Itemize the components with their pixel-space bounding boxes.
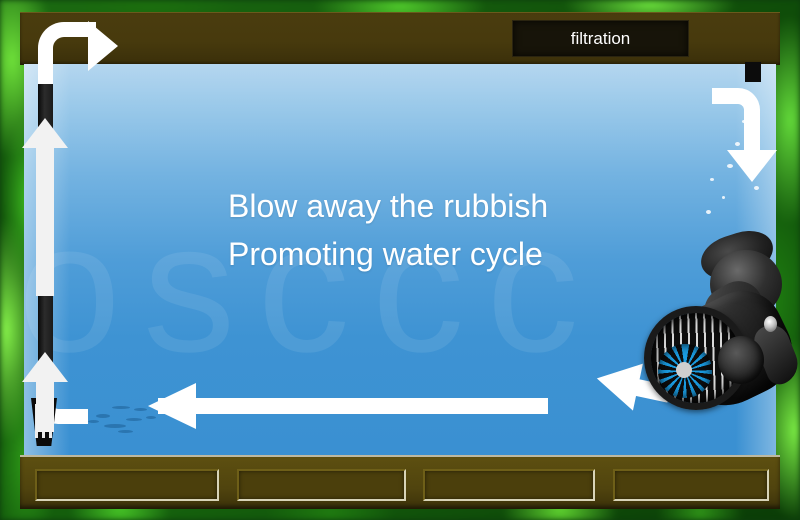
filtration-badge[interactable]: filtration — [512, 20, 689, 57]
outlet-elbow-arrow-top-left-icon — [88, 21, 118, 71]
pump-indicator-led — [764, 316, 777, 332]
debris-particle — [88, 420, 99, 423]
surface-sweep-arrow-icon — [148, 396, 548, 416]
frame-panel-1 — [35, 469, 219, 501]
debris-particle — [96, 414, 110, 418]
tank-frame-bottom — [20, 455, 780, 509]
debris-particle — [118, 430, 133, 433]
bubble-speck — [722, 196, 725, 199]
debris-particle — [126, 418, 142, 421]
arrow-head — [22, 118, 68, 148]
arrow-head — [22, 352, 68, 382]
headline-block: Blow away the rubbish Promoting water cy… — [228, 182, 648, 278]
frame-panel-3 — [423, 469, 595, 501]
intake-up-arrow-lower-icon — [22, 352, 68, 432]
bubble-speck — [754, 186, 759, 190]
frame-panel-4 — [613, 469, 769, 501]
return-outlet-nozzle — [745, 62, 761, 82]
pump-side-knob — [718, 336, 764, 384]
arrow-shaft — [36, 382, 54, 432]
headline-line-1: Blow away the rubbish — [228, 182, 648, 230]
filtration-badge-label: filtration — [571, 29, 631, 49]
bubble-speck — [710, 178, 714, 181]
debris-particle — [134, 408, 147, 411]
arrow-head — [148, 383, 196, 429]
wavemaker-pump — [648, 232, 798, 412]
arrow-shaft — [36, 148, 54, 296]
arrow-shaft — [158, 398, 548, 414]
screenshot-stage: osccc Blow away the rubbish Promoting wa… — [0, 0, 800, 520]
headline-line-2: Promoting water cycle — [228, 230, 648, 278]
bubble-speck — [735, 142, 740, 146]
pump-impeller-hub — [676, 362, 692, 378]
debris-particle — [104, 424, 126, 428]
intake-up-arrow-upper-icon — [22, 118, 68, 296]
arrow-head — [592, 355, 643, 411]
bubble-speck — [706, 210, 711, 214]
debris-particle — [112, 406, 130, 409]
return-arrow-right-head — [727, 150, 777, 182]
frame-panel-2 — [237, 469, 406, 501]
